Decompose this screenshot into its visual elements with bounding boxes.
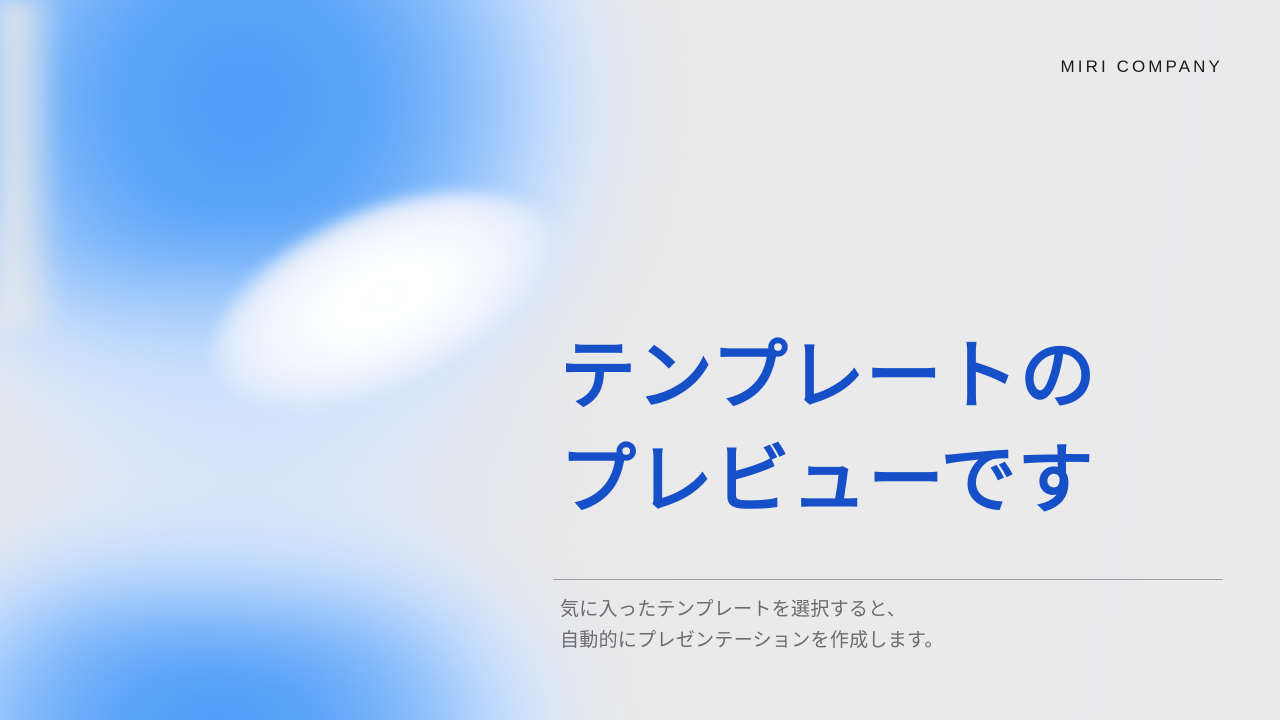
slide-canvas: MIRI COMPANY テンプレートの プレビューです 気に入ったテンプレート… [0,0,1280,720]
page-title-line-1: テンプレートの [560,325,1240,429]
company-name-label: MIRI COMPANY [1060,57,1223,77]
horizontal-divider [553,579,1223,580]
slide-content: MIRI COMPANY テンプレートの プレビューです 気に入ったテンプレート… [0,0,1280,720]
subtitle-text: 気に入ったテンプレートを選択すると、 自動的にプレゼンテーションを作成します。 [560,594,944,656]
subtitle-line-2: 自動的にプレゼンテーションを作成します。 [560,625,944,656]
page-title-line-2: プレビューです [560,429,1240,533]
page-title: テンプレートの プレビューです [560,325,1240,533]
subtitle-line-1: 気に入ったテンプレートを選択すると、 [560,594,944,625]
